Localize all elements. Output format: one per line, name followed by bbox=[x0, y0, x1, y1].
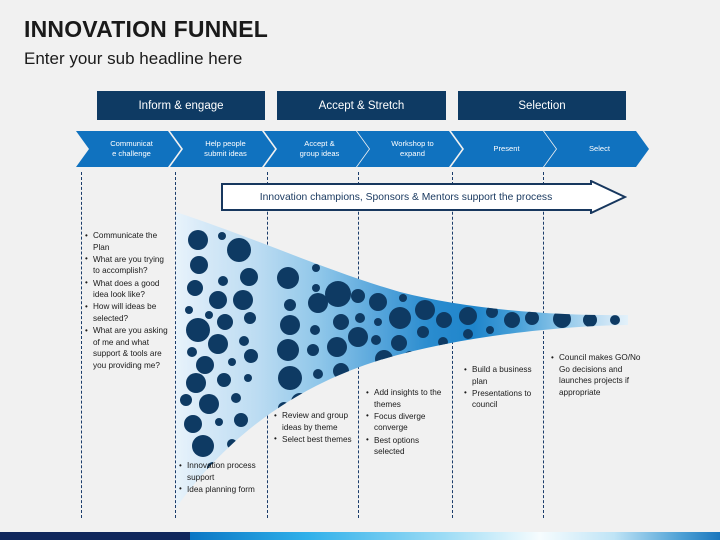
notes-column-group-ideas: Review and group ideas by theme Select b… bbox=[274, 410, 356, 446]
phase-bar-inform-engage[interactable]: Inform & engage bbox=[97, 91, 265, 120]
notes-list: Build a business plan Presentations to c… bbox=[464, 364, 540, 411]
notes-column-select: Council makes GO/No Go decisions and lau… bbox=[551, 352, 645, 399]
support-arrow-label: Innovation champions, Sponsors & Mentors… bbox=[221, 180, 591, 214]
note-item: Review and group ideas by theme bbox=[274, 410, 356, 433]
note-item: What does a good idea look like? bbox=[85, 278, 171, 301]
step-label-line1: Communicat bbox=[110, 139, 153, 149]
phase-bar-accept-stretch[interactable]: Accept & Stretch bbox=[277, 91, 446, 120]
step-label-line2: e challenge bbox=[110, 149, 153, 159]
bottom-accent-bar bbox=[0, 532, 720, 540]
note-item: Idea planning form bbox=[179, 484, 265, 496]
note-item: Council makes GO/No Go decisions and lau… bbox=[551, 352, 645, 399]
notes-column-inform: Communicate the Plan What are you trying… bbox=[85, 230, 171, 372]
step-label-line1: Help people bbox=[204, 139, 247, 149]
step-chevron-help-people-submit-ideas[interactable]: Help people submit ideas bbox=[170, 131, 275, 167]
step-label-line1: Present bbox=[493, 144, 519, 154]
step-label-line1: Accept & bbox=[300, 139, 340, 149]
notes-list: Innovation process support Idea planning… bbox=[179, 460, 265, 495]
step-label-line2: submit ideas bbox=[204, 149, 247, 159]
note-item: Best options selected bbox=[366, 435, 450, 458]
column-divider bbox=[543, 172, 544, 518]
step-label-line2: expand bbox=[391, 149, 434, 159]
notes-column-workshop: Add insights to the themes Focus diverge… bbox=[366, 387, 450, 458]
bottom-accent-gradient-segment bbox=[190, 532, 720, 540]
phase-bar-label: Selection bbox=[518, 100, 565, 112]
step-chevron-workshop-to-expand[interactable]: Workshop to expand bbox=[357, 131, 462, 167]
page-subtitle: Enter your sub headline here bbox=[24, 49, 242, 69]
step-chevron-present[interactable]: Present bbox=[451, 131, 556, 167]
column-divider bbox=[452, 172, 453, 518]
column-divider bbox=[358, 172, 359, 518]
notes-list: Communicate the Plan What are you trying… bbox=[85, 230, 171, 372]
step-chevron-communicate-challenge[interactable]: Communicat e challenge bbox=[76, 131, 181, 167]
notes-column-submit-ideas: Innovation process support Idea planning… bbox=[179, 460, 265, 496]
phase-bar-selection[interactable]: Selection bbox=[458, 91, 626, 120]
note-item: Select best themes bbox=[274, 434, 356, 446]
step-label-line2: group ideas bbox=[300, 149, 340, 159]
phase-bar-label: Accept & Stretch bbox=[319, 100, 405, 112]
column-divider bbox=[81, 172, 82, 518]
notes-list: Review and group ideas by theme Select b… bbox=[274, 410, 356, 445]
notes-list: Add insights to the themes Focus diverge… bbox=[366, 387, 450, 458]
notes-column-present: Build a business plan Presentations to c… bbox=[464, 364, 540, 412]
step-chevron-accept-group-ideas[interactable]: Accept & group ideas bbox=[264, 131, 369, 167]
process-step-ribbon: Communicat e challenge Help people submi… bbox=[0, 131, 720, 167]
phase-bar-label: Inform & engage bbox=[138, 100, 223, 112]
note-item: Communicate the Plan bbox=[85, 230, 171, 253]
slide-canvas: INNOVATION FUNNEL Enter your sub headlin… bbox=[0, 0, 720, 540]
note-item: What are you trying to accomplish? bbox=[85, 254, 171, 277]
page-title: INNOVATION FUNNEL bbox=[24, 16, 268, 43]
note-item: Add insights to the themes bbox=[366, 387, 450, 410]
note-item: Build a business plan bbox=[464, 364, 540, 387]
bottom-accent-navy-segment bbox=[0, 532, 190, 540]
support-arrow-banner[interactable]: Innovation champions, Sponsors & Mentors… bbox=[221, 180, 627, 214]
column-divider bbox=[175, 172, 176, 518]
note-item: What are you asking of me and what suppo… bbox=[85, 325, 171, 372]
step-label-line1: Workshop to bbox=[391, 139, 434, 149]
notes-list: Council makes GO/No Go decisions and lau… bbox=[551, 352, 645, 399]
note-item: Innovation process support bbox=[179, 460, 265, 483]
step-label-line1: Select bbox=[589, 144, 610, 154]
note-item: How will ideas be selected? bbox=[85, 301, 171, 324]
note-item: Focus diverge converge bbox=[366, 411, 450, 434]
step-chevron-select[interactable]: Select bbox=[544, 131, 649, 167]
note-item: Presentations to council bbox=[464, 388, 540, 411]
column-divider bbox=[267, 172, 268, 518]
